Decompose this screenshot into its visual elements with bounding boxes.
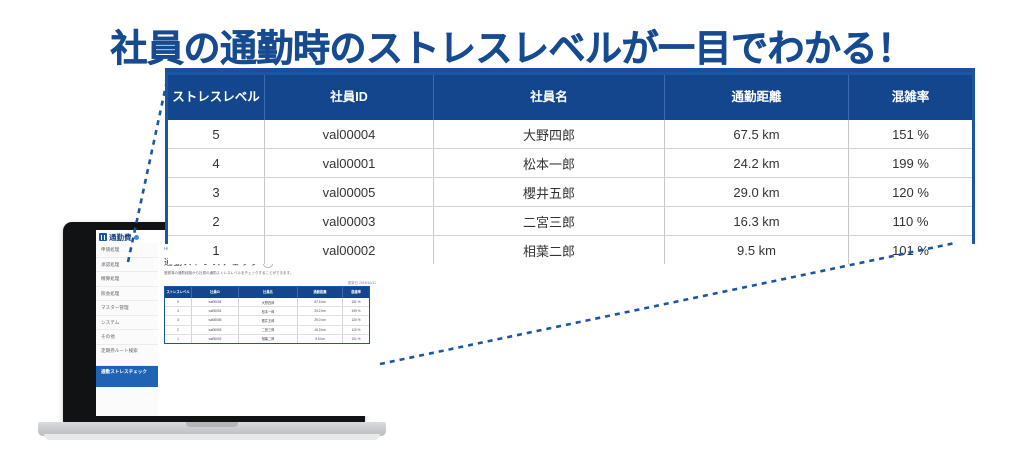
mini-table-cell: 67.5 km <box>298 298 343 307</box>
mini-table-row[interactable]: 1val00002相葉二郎9.5 km101 % <box>165 334 369 343</box>
col-stress-level: ストレスレベル <box>168 75 265 120</box>
sidebar-item-6[interactable]: その他 <box>96 330 158 345</box>
sidebar-item-2[interactable]: 精算処理 <box>96 272 158 287</box>
mini-table-head: ストレスレベル 社員ID 社員名 通勤距離 混雑率 <box>165 287 369 298</box>
big-table-cell: val00004 <box>265 120 434 149</box>
mini-table-row[interactable]: 5val00004大野四郎67.5 km151 % <box>165 298 369 307</box>
mini-table-cell: val00003 <box>192 325 239 334</box>
col-employee-id: 社員ID <box>265 75 434 120</box>
big-table-cell: 151 % <box>849 120 973 149</box>
mini-results-table-wrapper: ストレスレベル 社員ID 社員名 通勤距離 混雑率 5val00004大野四郎6… <box>164 286 370 344</box>
sidebar-item-0[interactable]: 申請処理 <box>96 243 158 258</box>
big-table-cell: val00005 <box>265 178 434 207</box>
stress-results-table-wrapper: ストレスレベル 社員ID 社員名 通勤距離 混雑率 5val00004大野四郎6… <box>165 72 975 244</box>
big-table-cell: 199 % <box>849 149 973 178</box>
screenshot-stage: 社員の通勤時のストレスレベルが一目でわかる！ 通勤費 申請処理 承認処理 精算処… <box>0 0 1024 468</box>
content-description: 登録済の通勤経路から社員の通勤ストレスレベルをチェックすることができます。 <box>164 271 293 276</box>
sidebar-item-7[interactable]: 定期券ルート検索 <box>96 345 158 366</box>
mini-table-cell: val00004 <box>192 298 239 307</box>
big-table-cell: 101 % <box>849 236 973 265</box>
mini-table-cell: val00002 <box>192 334 239 343</box>
big-table-cell: 松本一郎 <box>434 149 665 178</box>
mini-table-cell: 9.5 km <box>298 334 343 343</box>
col-congestion-rate: 混雑率 <box>849 75 973 120</box>
sidebar-item-5[interactable]: システム <box>96 316 158 331</box>
mini-table-cell: 110 % <box>343 325 370 334</box>
mini-col-distance: 通勤距離 <box>298 287 343 298</box>
big-table-cell: 1 <box>168 236 265 265</box>
app-logo-dot-icon <box>134 235 139 240</box>
big-table-cell: 29.0 km <box>665 178 849 207</box>
big-table-cell: 3 <box>168 178 265 207</box>
big-table-cell: 5 <box>168 120 265 149</box>
sidebar-item-1[interactable]: 承認処理 <box>96 258 158 273</box>
big-table-cell: 24.2 km <box>665 149 849 178</box>
mini-header-row: ストレスレベル 社員ID 社員名 通勤距離 混雑率 <box>165 287 369 298</box>
mini-table-cell: 櫻井五郎 <box>239 316 298 325</box>
big-table-row[interactable]: 4val00001松本一郎24.2 km199 % <box>168 149 972 178</box>
col-employee-name: 社員名 <box>434 75 665 120</box>
mini-col-stress-level: ストレスレベル <box>165 287 192 298</box>
big-table-cell: 120 % <box>849 178 973 207</box>
mini-table-row[interactable]: 2val00003二宮三郎16.3 km110 % <box>165 325 369 334</box>
mini-col-congestion: 混雑率 <box>343 287 370 298</box>
app-sidebar: 申請処理 承認処理 精算処理 照会処理 マスター管理 システム その他 定期券ル… <box>96 243 159 416</box>
app-content: HOME>通勤ストレスチェック 通勤ストレスチェック? 登録済の通勤経路から社員… <box>158 243 382 416</box>
big-table-cell: 二宮三郎 <box>434 207 665 236</box>
mini-table-cell: 1 <box>165 334 192 343</box>
mini-table-cell: val00005 <box>192 316 239 325</box>
stress-results-table: ストレスレベル 社員ID 社員名 通勤距離 混雑率 5val00004大野四郎6… <box>168 75 972 264</box>
big-table-cell: 2 <box>168 207 265 236</box>
mini-table-cell: 相葉二郎 <box>239 334 298 343</box>
big-table-cell: 大野四郎 <box>434 120 665 149</box>
big-table-cell: 4 <box>168 149 265 178</box>
big-table-cell: 櫻井五郎 <box>434 178 665 207</box>
big-table-cell: 9.5 km <box>665 236 849 265</box>
sidebar-item-8[interactable]: 通勤ストレスチェック <box>96 366 158 387</box>
mini-table-cell: 120 % <box>343 316 370 325</box>
big-table-row[interactable]: 1val00002相葉二郎9.5 km101 % <box>168 236 972 265</box>
big-table-body: 5val00004大野四郎67.5 km151 %4val00001松本一郎24… <box>168 120 972 264</box>
mini-table-cell: 大野四郎 <box>239 298 298 307</box>
app-logo-text: 通勤費 <box>109 232 132 243</box>
page-title: 社員の通勤時のストレスレベルが一目でわかる！ <box>0 18 1024 72</box>
big-table-cell: val00001 <box>265 149 434 178</box>
big-table-cell: 相葉二郎 <box>434 236 665 265</box>
mini-table-body: 5val00004大野四郎67.5 km151 %4val00001松本一郎24… <box>165 298 369 343</box>
app-logo-icon <box>99 233 107 241</box>
mini-table-cell: 5 <box>165 298 192 307</box>
mini-table-cell: 松本一郎 <box>239 307 298 316</box>
mini-table-row[interactable]: 4val00001松本一郎24.2 km199 % <box>165 307 369 316</box>
updated-label: 更新日 <box>348 281 358 285</box>
big-table-cell: 67.5 km <box>665 120 849 149</box>
mini-table-cell: 199 % <box>343 307 370 316</box>
big-table-row[interactable]: 3val00005櫻井五郎29.0 km120 % <box>168 178 972 207</box>
app-logo[interactable]: 通勤費 <box>99 232 139 243</box>
big-table-cell: 110 % <box>849 207 973 236</box>
big-table-cell: val00002 <box>265 236 434 265</box>
mini-table-cell: 29.0 km <box>298 316 343 325</box>
big-header-row: ストレスレベル 社員ID 社員名 通勤距離 混雑率 <box>168 75 972 120</box>
mini-table-cell: val00001 <box>192 307 239 316</box>
big-table-row[interactable]: 5val00004大野四郎67.5 km151 % <box>168 120 972 149</box>
col-commute-distance: 通勤距離 <box>665 75 849 120</box>
mini-table-cell: 24.2 km <box>298 307 343 316</box>
mini-table-cell: 3 <box>165 316 192 325</box>
laptop-foot <box>44 434 380 440</box>
sidebar-item-4[interactable]: マスター管理 <box>96 301 158 316</box>
sidebar-item-3[interactable]: 照会処理 <box>96 287 158 302</box>
mini-table-cell: 16.3 km <box>298 325 343 334</box>
mini-col-employee-name: 社員名 <box>239 287 298 298</box>
mini-table-cell: 151 % <box>343 298 370 307</box>
mini-table-cell: 2 <box>165 325 192 334</box>
mini-results-table: ストレスレベル 社員ID 社員名 通勤距離 混雑率 5val00004大野四郎6… <box>165 287 369 343</box>
big-table-row[interactable]: 2val00003二宮三郎16.3 km110 % <box>168 207 972 236</box>
mini-table-cell: 4 <box>165 307 192 316</box>
big-table-cell: val00003 <box>265 207 434 236</box>
big-table-head: ストレスレベル 社員ID 社員名 通勤距離 混雑率 <box>168 75 972 120</box>
big-table-cell: 16.3 km <box>665 207 849 236</box>
updated-date: 更新日 2018/10/31 <box>348 280 376 285</box>
mini-table-cell: 101 % <box>343 334 370 343</box>
mini-table-cell: 二宮三郎 <box>239 325 298 334</box>
mini-table-row[interactable]: 3val00005櫻井五郎29.0 km120 % <box>165 316 369 325</box>
mini-col-employee-id: 社員ID <box>192 287 239 298</box>
updated-value: 2018/10/31 <box>359 281 376 285</box>
